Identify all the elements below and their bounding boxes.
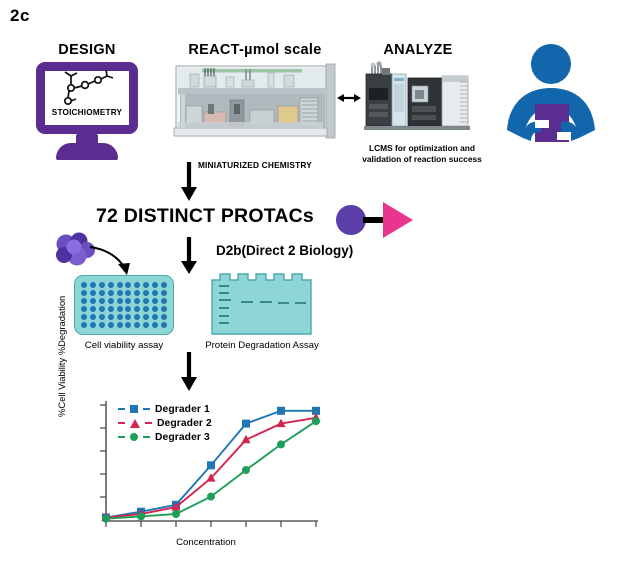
well — [143, 314, 149, 320]
well — [143, 298, 149, 304]
well — [108, 314, 114, 320]
legend-line-2b — [145, 422, 152, 424]
protac-molecule-icon — [335, 198, 415, 242]
arrow-down-to-protacs — [176, 162, 202, 202]
legend-item-degrader-3: Degrader 3 — [118, 430, 212, 444]
data-point — [137, 512, 145, 520]
well — [134, 322, 140, 328]
well — [152, 314, 158, 320]
well — [134, 282, 140, 288]
well — [108, 298, 114, 304]
well — [99, 298, 105, 304]
well — [152, 322, 158, 328]
well — [108, 290, 114, 296]
legend-label-degrader-1: Degrader 1 — [155, 404, 210, 415]
legend-item-degrader-2: Degrader 2 — [118, 416, 212, 430]
data-point — [207, 493, 215, 501]
well — [90, 322, 96, 328]
well — [81, 314, 87, 320]
protein-degradation-caption: Protein Degradation Assay — [198, 340, 326, 351]
well — [99, 290, 105, 296]
legend-line-2 — [118, 422, 125, 424]
well — [108, 306, 114, 312]
bidirectional-arrow-icon — [336, 90, 362, 106]
well — [99, 306, 105, 312]
react-heading: REACT-µmol scale — [175, 42, 335, 58]
well — [152, 290, 158, 296]
well — [125, 298, 131, 304]
well — [117, 314, 123, 320]
well — [161, 322, 167, 328]
well — [90, 314, 96, 320]
well — [99, 322, 105, 328]
robotic-synthesizer-icon — [172, 60, 337, 146]
well — [81, 290, 87, 296]
protein-degradation-gel-icon — [210, 272, 313, 336]
design-heading: DESIGN — [36, 42, 138, 58]
well — [117, 290, 123, 296]
molecule-structure-icon — [55, 66, 121, 110]
well — [125, 314, 131, 320]
well — [152, 298, 158, 304]
well — [108, 282, 114, 288]
well — [99, 314, 105, 320]
legend-line-3 — [118, 436, 125, 438]
degradation-chart: %Cell Viability %Degradation — [62, 395, 322, 555]
well — [117, 298, 123, 304]
legend-marker-circle — [130, 433, 138, 441]
well — [161, 306, 167, 312]
well — [134, 290, 140, 296]
data-point — [277, 407, 285, 415]
well — [99, 282, 105, 288]
well — [161, 282, 167, 288]
legend-label-degrader-3: Degrader 3 — [155, 432, 210, 443]
legend-label-degrader-2: Degrader 2 — [157, 418, 212, 429]
legend-line-3b — [143, 436, 150, 438]
well — [81, 306, 87, 312]
well — [90, 290, 96, 296]
well — [117, 322, 123, 328]
well — [81, 282, 87, 288]
arrow-down-to-chart — [176, 352, 202, 392]
well — [90, 306, 96, 312]
legend-marker-square — [130, 405, 138, 413]
monitor-base — [56, 143, 118, 160]
well — [143, 290, 149, 296]
well — [134, 314, 140, 320]
well — [90, 282, 96, 288]
well — [125, 290, 131, 296]
well — [117, 306, 123, 312]
data-point — [242, 420, 250, 428]
well — [134, 298, 140, 304]
data-point — [242, 466, 250, 474]
chart-x-axis-label: Concentration — [106, 537, 306, 548]
chart-legend: Degrader 1 Degrader 2 Degrader 3 — [118, 402, 212, 444]
data-point — [207, 461, 215, 469]
well — [125, 282, 131, 288]
lcms-caption: LCMS for optimization and validation of … — [352, 143, 492, 164]
well — [143, 322, 149, 328]
cell-viability-caption: Cell viability assay — [54, 340, 194, 351]
well — [161, 298, 167, 304]
panel-label: 2c — [10, 6, 30, 26]
arrow-down-to-assays — [176, 237, 202, 275]
person-reading-icon — [505, 42, 597, 144]
well — [125, 306, 131, 312]
well — [152, 282, 158, 288]
well — [161, 314, 167, 320]
well — [143, 306, 149, 312]
legend-marker-triangle — [130, 419, 140, 428]
legend-line-1 — [118, 408, 125, 410]
well — [81, 322, 87, 328]
lcms-instrument-icon — [360, 60, 475, 140]
data-point — [172, 510, 180, 518]
d2b-label: D2b(Direct 2 Biology) — [216, 243, 353, 258]
well — [90, 298, 96, 304]
protac-count-title: 72 DISTINCT PROTACs — [60, 205, 350, 228]
legend-item-degrader-1: Degrader 1 — [118, 402, 212, 416]
data-point — [312, 417, 320, 425]
well-grid — [80, 281, 168, 329]
well — [134, 306, 140, 312]
well — [161, 290, 167, 296]
data-point — [102, 515, 110, 523]
legend-line-1b — [143, 408, 150, 410]
arrow-cells-to-plate — [88, 243, 136, 277]
well — [152, 306, 158, 312]
stoichiometry-label: STOICHIOMETRY — [36, 108, 138, 117]
well — [108, 322, 114, 328]
analyze-heading: ANALYZE — [358, 42, 478, 58]
well — [125, 322, 131, 328]
data-point — [277, 440, 285, 448]
well — [117, 282, 123, 288]
well — [143, 282, 149, 288]
well — [81, 298, 87, 304]
